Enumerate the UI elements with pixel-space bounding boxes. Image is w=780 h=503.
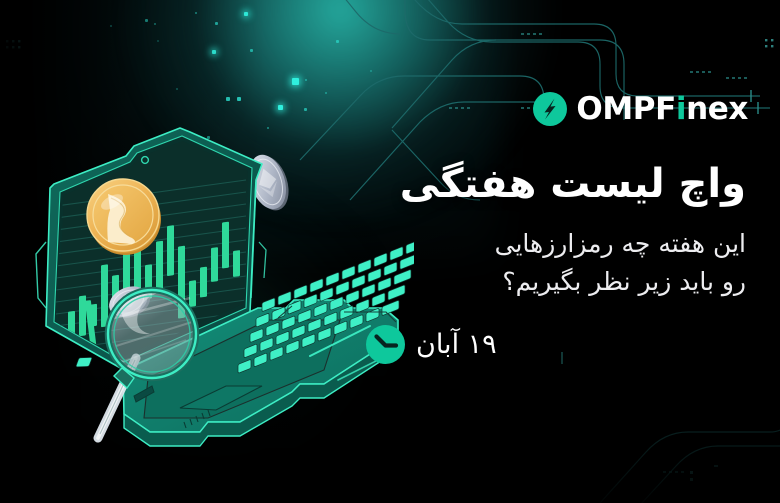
brand-name-part2: nex bbox=[686, 91, 748, 127]
subtitle: این هفته چه رمزارزهایی رو باید زیر نظر ب… bbox=[366, 225, 746, 301]
copy-block: واچ لیست هفتگی این هفته چه رمزارزهایی رو… bbox=[366, 160, 746, 364]
date-line: ۱۹ آبان bbox=[366, 325, 746, 364]
ompfinex-logo-mark-icon bbox=[533, 92, 567, 126]
brand-name-part1: OMPF bbox=[576, 91, 676, 127]
date-label: ۱۹ آبان bbox=[416, 331, 497, 358]
laptop-illustration bbox=[0, 122, 414, 492]
banner-canvas: OMPFinex واچ لیست هفتگی این هفته چه رمزا… bbox=[0, 0, 780, 503]
subtitle-line-2: رو باید زیر نظر بگیریم؟ bbox=[366, 263, 746, 301]
subtitle-line-1: این هفته چه رمزارزهایی bbox=[366, 225, 746, 263]
brand-logo-text: OMPFinex bbox=[576, 94, 748, 125]
clock-icon bbox=[366, 325, 405, 364]
page-title: واچ لیست هفتگی bbox=[366, 160, 746, 209]
brand-logo[interactable]: OMPFinex bbox=[533, 92, 748, 126]
brand-name-accent: i bbox=[676, 91, 686, 127]
